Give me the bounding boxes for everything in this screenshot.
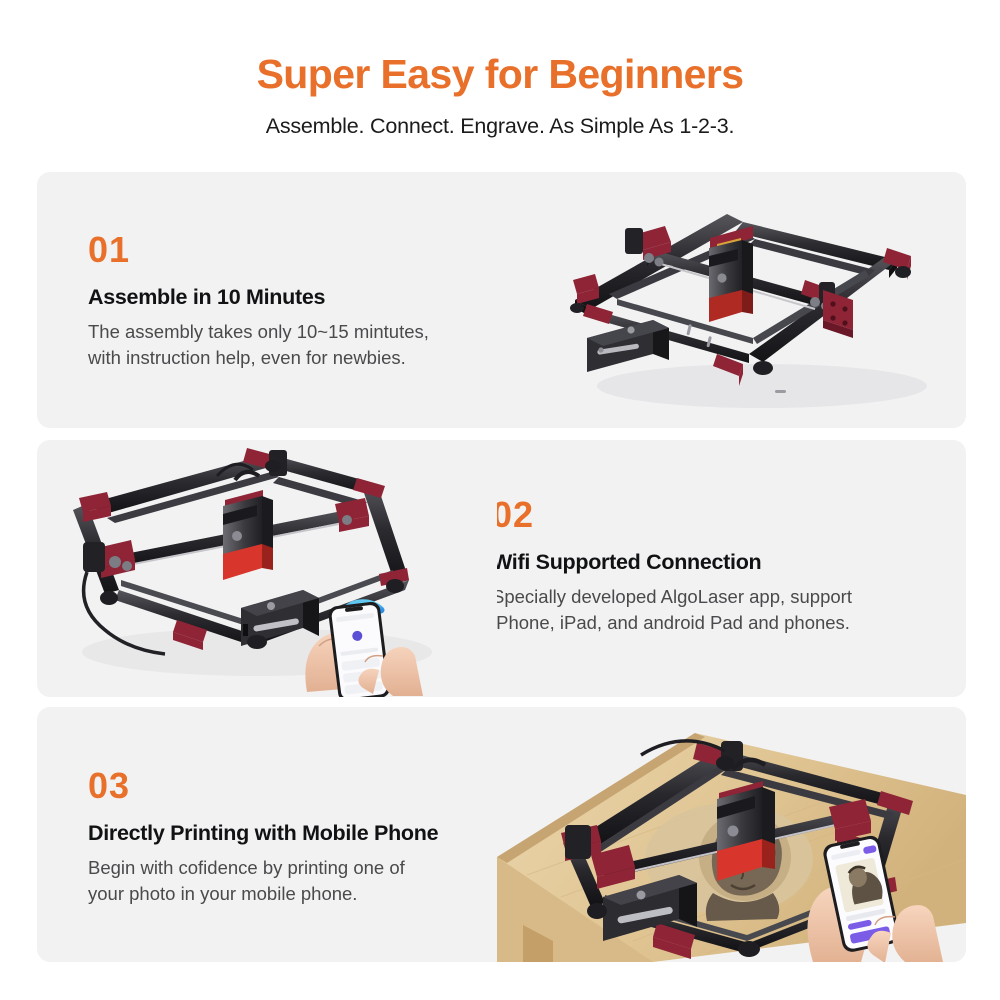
laser-engraver-wifi-phone-image: [57, 440, 497, 697]
feature-card-2-description: Specially developed AlgoLaser app, suppo…: [492, 584, 852, 637]
feature-card-1-description: The assembly takes only 10~15 mintutes, …: [88, 319, 429, 372]
page-header: Super Easy for Beginners Assemble. Conne…: [0, 0, 1000, 139]
feature-card-2-text: 02 Wifi Supported Connection Specially d…: [492, 497, 852, 636]
feature-card-3-description: Begin with cofidence by printing one of …: [88, 855, 438, 908]
page-title: Super Easy for Beginners: [0, 52, 1000, 97]
feature-card-1-number: 01: [88, 232, 429, 268]
feature-card-1: 01 Assemble in 10 Minutes The assembly t…: [37, 172, 966, 428]
feature-card-3-text: 03 Directly Printing with Mobile Phone B…: [88, 768, 438, 907]
feature-card-2-number: 02: [492, 497, 852, 533]
promo-page: Super Easy for Beginners Assemble. Conne…: [0, 0, 1000, 1000]
feature-card-3: 03 Directly Printing with Mobile Phone B…: [37, 707, 966, 962]
feature-card-2: 02 Wifi Supported Connection Specially d…: [37, 440, 966, 697]
feature-card-1-text: 01 Assemble in 10 Minutes The assembly t…: [88, 232, 429, 371]
laser-engraver-frame-image: [557, 172, 966, 428]
feature-card-3-number: 03: [88, 768, 438, 804]
feature-card-2-title: Wifi Supported Connection: [492, 550, 852, 576]
feature-card-1-title: Assemble in 10 Minutes: [88, 285, 429, 311]
feature-card-3-title: Directly Printing with Mobile Phone: [88, 821, 438, 847]
page-subtitle: Assemble. Connect. Engrave. As Simple As…: [0, 114, 1000, 139]
laser-engraver-table-portrait-image: [457, 707, 966, 962]
